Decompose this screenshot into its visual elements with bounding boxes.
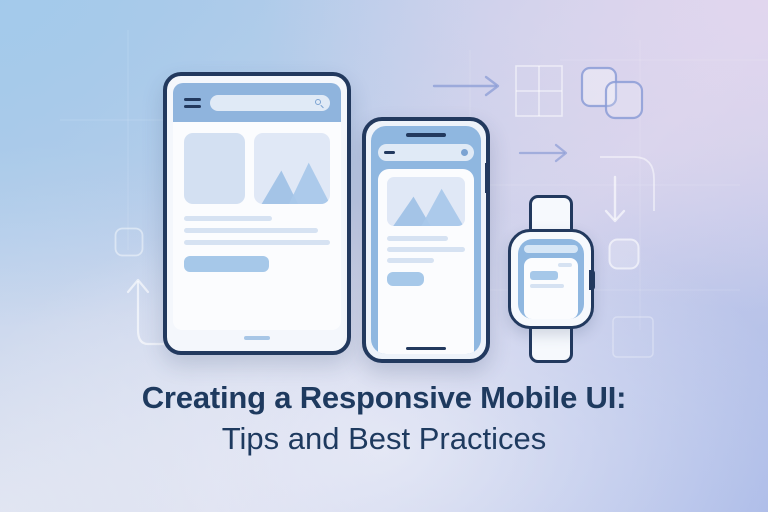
title-line-2: Tips and Best Practices [0, 418, 768, 460]
phone-device[interactable] [362, 117, 490, 363]
search-input[interactable] [210, 95, 330, 111]
tablet-screen [173, 83, 341, 330]
tablet-card-row [184, 133, 330, 204]
text-line [530, 271, 558, 280]
watch-screen [518, 239, 584, 319]
phone-nav-bar[interactable] [378, 144, 474, 161]
digital-crown[interactable] [589, 270, 595, 290]
text-line [184, 240, 330, 245]
tablet-content [173, 122, 341, 330]
watch-body[interactable] [508, 229, 594, 329]
text-line [184, 216, 272, 221]
speaker-notch [406, 133, 446, 137]
image-placeholder-icon[interactable] [387, 177, 465, 226]
title-line-1: Creating a Responsive Mobile UI: [0, 378, 768, 418]
page-title: Creating a Responsive Mobile UI: Tips an… [0, 378, 768, 460]
smartwatch-device[interactable] [508, 195, 594, 363]
phone-content-card [378, 169, 474, 354]
search-icon [315, 99, 323, 107]
hamburger-menu-icon[interactable] [184, 98, 201, 108]
text-line [184, 228, 318, 233]
tablet-content-block[interactable] [184, 133, 245, 204]
phone-cta-button[interactable] [387, 272, 424, 286]
watch-header-bar [524, 245, 578, 253]
text-line [387, 247, 465, 252]
home-indicator [406, 347, 446, 350]
poster-canvas: Creating a Responsive Mobile UI: Tips an… [0, 0, 768, 512]
tablet-app-header [173, 83, 341, 122]
image-placeholder-icon[interactable] [254, 133, 330, 204]
tablet-cta-button[interactable] [184, 256, 269, 272]
watch-content-card [524, 258, 578, 319]
power-button[interactable] [485, 163, 489, 193]
phone-screen [371, 126, 481, 354]
device-mockup-group [0, 0, 768, 375]
home-indicator [244, 336, 270, 340]
phone-text-lines [387, 236, 465, 263]
text-line [387, 258, 434, 263]
text-line [558, 263, 572, 267]
tablet-device[interactable] [163, 72, 351, 355]
text-line [530, 284, 564, 288]
tablet-text-lines [184, 216, 330, 245]
menu-dash-icon[interactable] [384, 151, 395, 154]
location-pin-icon[interactable] [461, 149, 468, 156]
text-line [387, 236, 448, 241]
